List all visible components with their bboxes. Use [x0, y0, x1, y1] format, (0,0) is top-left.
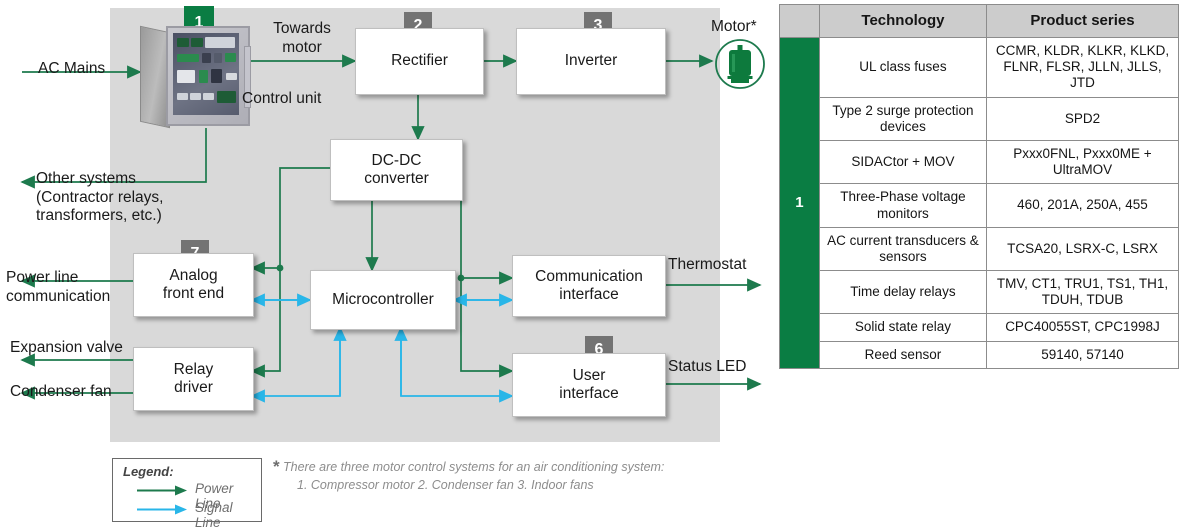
- label-power-line-communication-line2: communication: [6, 288, 110, 307]
- node-rectifier[interactable]: Rectifier: [355, 28, 484, 95]
- node-dc-dc-converter-label-line2: converter: [364, 170, 429, 188]
- node-microcontroller-label: Microcontroller: [332, 291, 434, 309]
- label-condenser-fan: Condenser fan: [10, 383, 112, 402]
- label-ac-mains: AC Mains: [38, 60, 105, 79]
- node-inverter-label: Inverter: [565, 52, 618, 70]
- node-communication-interface[interactable]: Communication interface: [512, 255, 666, 317]
- label-status-led: Status LED: [668, 358, 746, 377]
- label-other-systems: Other systems (Contractor relays, transf…: [36, 170, 163, 226]
- label-control-unit: Control unit: [242, 90, 321, 109]
- label-other-systems-line3: transformers, etc.): [36, 207, 163, 226]
- node-communication-interface-label-line1: Communication: [535, 268, 643, 286]
- node-user-interface[interactable]: User interface: [512, 353, 666, 417]
- label-other-systems-line2: (Contractor relays,: [36, 189, 163, 208]
- node-user-interface-label-line2: interface: [559, 385, 618, 403]
- node-dc-dc-converter-label-line1: DC-DC: [372, 152, 422, 170]
- footnote-line2: 1. Compressor motor 2. Condenser fan 3. …: [283, 476, 753, 494]
- label-towards-motor: Towards motor: [264, 20, 340, 57]
- control-panel: [173, 33, 239, 115]
- label-towards-motor-line1: Towards: [264, 20, 340, 39]
- label-motor: Motor*: [711, 18, 757, 37]
- label-towards-motor-line2: motor: [264, 39, 340, 58]
- control-unit-image: [140, 24, 252, 128]
- node-analog-front-end-label-line2: front end: [163, 285, 224, 303]
- node-relay-driver-label-line1: Relay: [174, 361, 214, 379]
- label-power-line-communication-line1: Power line: [6, 269, 110, 288]
- legend-signal-line-swatch: [137, 504, 189, 515]
- label-expansion-valve: Expansion valve: [10, 339, 123, 358]
- node-analog-front-end[interactable]: Analog front end: [133, 253, 254, 317]
- label-other-systems-line1: Other systems: [36, 170, 163, 189]
- legend-signal-line-label: Signal Line: [195, 500, 261, 530]
- legend-power-line-swatch: [137, 485, 189, 496]
- node-relay-driver-label-line2: driver: [174, 379, 213, 397]
- node-relay-driver[interactable]: Relay driver: [133, 347, 254, 411]
- label-thermostat: Thermostat: [668, 256, 746, 275]
- node-rectifier-label: Rectifier: [391, 52, 448, 70]
- node-user-interface-label-line1: User: [573, 367, 606, 385]
- node-inverter[interactable]: Inverter: [516, 28, 666, 95]
- node-microcontroller[interactable]: Microcontroller: [310, 270, 456, 330]
- node-dc-dc-converter[interactable]: DC-DC converter: [330, 139, 463, 201]
- motor-icon: [714, 38, 766, 90]
- enclosure-box: [166, 26, 250, 126]
- node-communication-interface-label-line2: interface: [559, 286, 618, 304]
- footnote-marker: *: [273, 455, 280, 480]
- node-analog-front-end-label-line1: Analog: [169, 267, 217, 285]
- label-power-line-communication: Power line communication: [6, 269, 110, 306]
- legend: Legend: Power Line Signal Line: [112, 458, 262, 522]
- footnote-line1: There are three motor control systems fo…: [283, 458, 753, 476]
- legend-title: Legend:: [123, 464, 174, 479]
- screenshot-root: 1 2 3 7 4 6 Rectifier Inverter DC-DC con…: [0, 0, 1200, 528]
- footnote: * There are three motor control systems …: [283, 458, 753, 494]
